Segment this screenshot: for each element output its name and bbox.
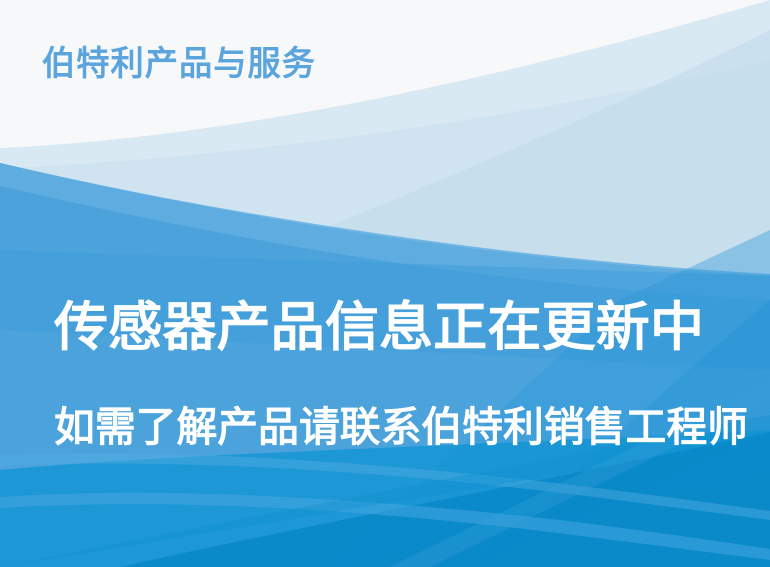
product-service-banner: 伯特利产品与服务 传感器产品信息正在更新中 如需了解产品请联系伯特利销售工程师 [0, 0, 770, 567]
background-wave-graphic [0, 0, 770, 567]
brand-title: 伯特利产品与服务 [42, 44, 316, 84]
